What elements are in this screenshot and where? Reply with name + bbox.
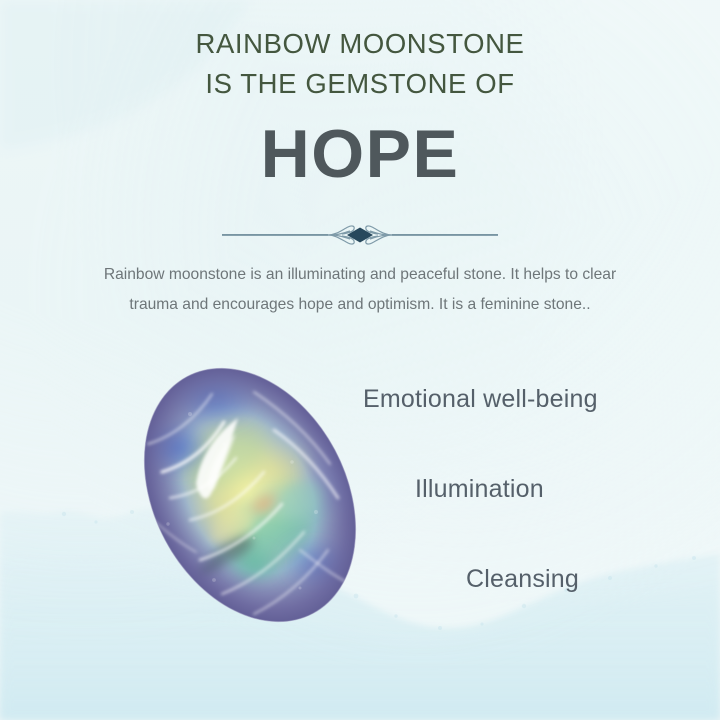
heading-line-2: IS THE GEMSTONE OF — [0, 64, 720, 104]
heading-line-1: RAINBOW MOONSTONE — [0, 24, 720, 64]
description-paragraph: Rainbow moonstone is an illuminating and… — [86, 260, 634, 320]
rainbow-moonstone-cabochon-image — [104, 352, 396, 638]
ornamental-divider — [0, 222, 720, 248]
benefit-label-cleansing: Cleansing — [466, 565, 579, 594]
gemstone-svg — [104, 352, 396, 638]
page-title: HOPE — [0, 116, 720, 192]
benefit-label-illumination: Illumination — [415, 475, 544, 504]
poster-heading: RAINBOW MOONSTONE IS THE GEMSTONE OF — [0, 24, 720, 104]
benefit-label-emotional-well-being: Emotional well-being — [363, 385, 598, 414]
poster-canvas: RAINBOW MOONSTONE IS THE GEMSTONE OF HOP… — [0, 0, 720, 720]
ornamental-divider-icon — [222, 222, 498, 248]
